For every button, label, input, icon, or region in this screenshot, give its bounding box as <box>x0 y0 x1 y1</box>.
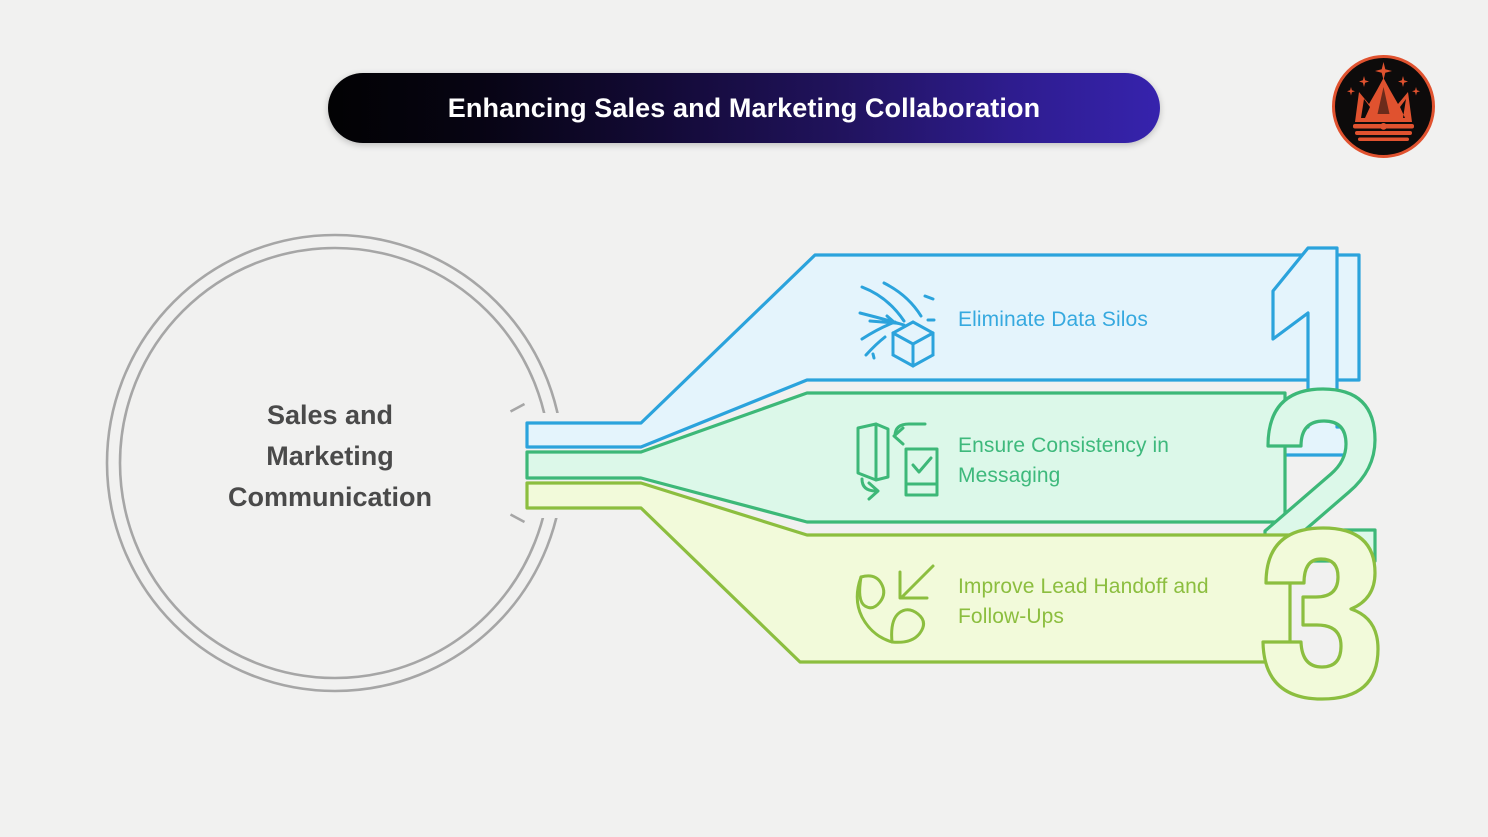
slide-canvas: Enhancing Sales and Marketing Collaborat… <box>0 0 1488 837</box>
bands-group <box>0 0 1488 837</box>
band-3-label: Improve Lead Handoff and Follow-Ups <box>958 572 1248 632</box>
band-2-label: Ensure Consistency in Messaging <box>958 431 1248 491</box>
band-1-label: Eliminate Data Silos <box>958 305 1258 335</box>
